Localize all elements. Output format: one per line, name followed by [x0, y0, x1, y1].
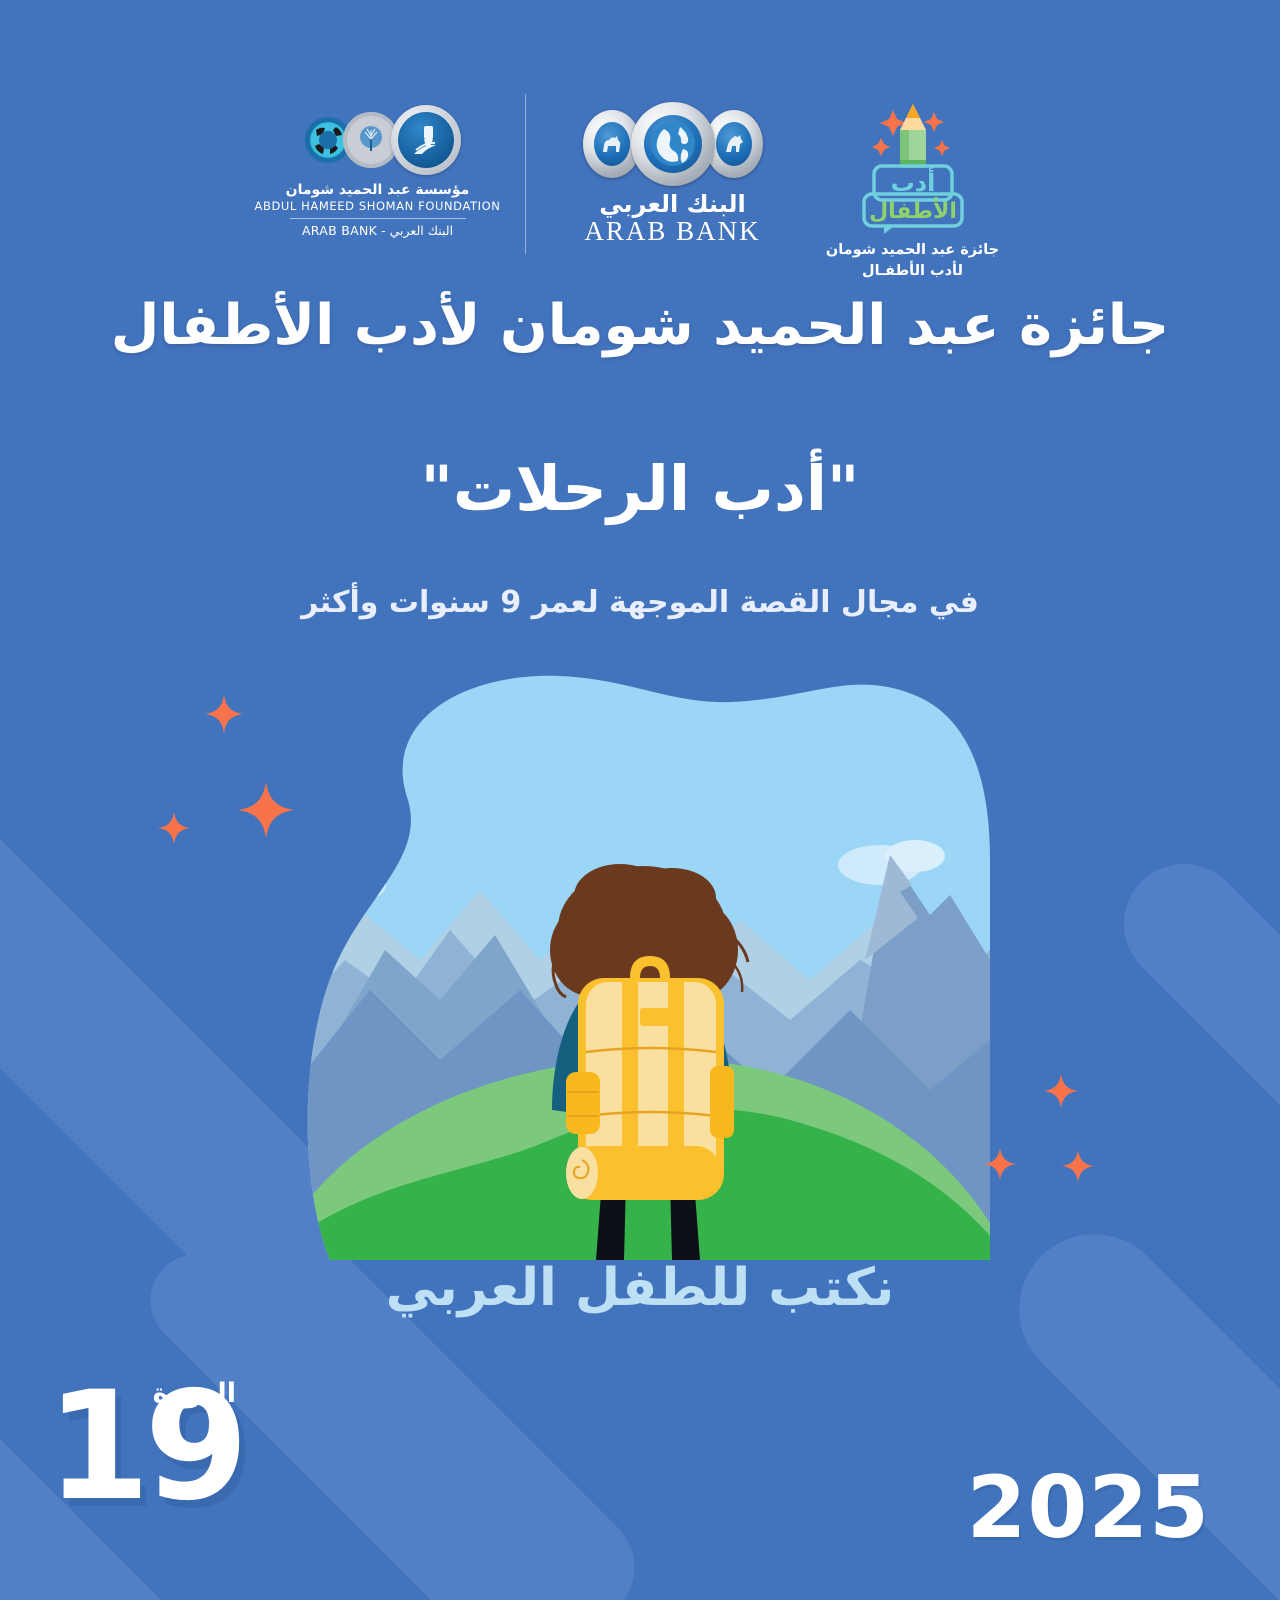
edition-label: الدورة	[153, 1378, 236, 1409]
arab-bank-name-ar: البنك العربي	[548, 190, 798, 218]
award-logo: أدب الأطفال جائزة عبد الحميد شومان لأدب …	[798, 88, 1028, 282]
shoman-affiliation: البنك العربي - ARAB BANK	[253, 223, 503, 238]
arab-bank-medallions-icon	[548, 102, 798, 186]
shoman-divider	[290, 218, 466, 219]
award-badge-line-2: الأطفال	[869, 196, 957, 224]
shoman-name-ar: مؤسسة عبد الحميد شومان	[253, 182, 503, 198]
hiker-with-backpack-mountains-illustration	[290, 660, 990, 1260]
sparkle-icon	[158, 812, 190, 848]
tagline: نكتب للطفل العربي	[0, 1258, 1280, 1318]
edition-badge: 19 الدورة	[40, 1372, 270, 1552]
award-caption-line-2: لأدب الأطفـال	[798, 261, 1028, 282]
pencil-speech-bubble-icon: أدب الأطفال	[838, 94, 988, 234]
award-caption-line-1: جائزة عبد الحميد شومان	[798, 240, 1028, 261]
sparkle-icon	[1062, 1150, 1094, 1186]
arab-bank-logo: البنك العربي ARAB BANK	[548, 88, 798, 247]
sparkle-icon	[238, 782, 294, 842]
page-title: جائزة عبد الحميد شومان لأدب الأطفال	[0, 292, 1280, 359]
medallion-globe	[631, 102, 715, 186]
shoman-foundation-circles-icon	[253, 104, 503, 176]
sparkle-icon	[984, 1148, 1016, 1184]
year-label: 2025	[967, 1458, 1210, 1558]
shoman-foundation-logo: مؤسسة عبد الحميد شومان ABDUL HAMEED SHOM…	[253, 88, 503, 238]
header-logos: أدب الأطفال جائزة عبد الحميد شومان لأدب …	[0, 88, 1280, 282]
theme-title: "أدب الرحلات"	[0, 452, 1280, 526]
arab-bank-name-en: ARAB BANK	[548, 216, 798, 247]
theme-subtitle: في مجال القصة الموجهة لعمر 9 سنوات وأكثر	[0, 583, 1280, 622]
sparkle-icon	[1044, 1074, 1078, 1112]
logo-divider	[525, 94, 526, 254]
shoman-name-en: ABDUL HAMEED SHOMAN FOUNDATION	[253, 199, 503, 213]
sparkle-icon	[205, 695, 243, 737]
pen-nib-circle-icon	[391, 105, 461, 175]
background-stripe	[1099, 839, 1280, 1221]
